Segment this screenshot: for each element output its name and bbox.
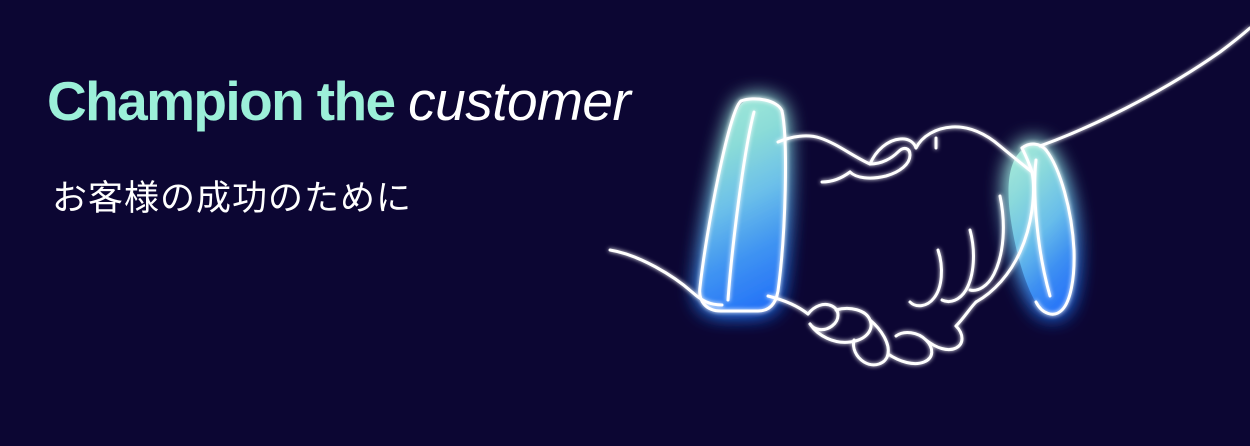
hero-banner: Champion the customer お客様の成功のために [0,0,1250,446]
handshake-line-path [610,28,1250,365]
subtitle-japanese: お客様の成功のために [52,178,412,220]
handshake-illustration [570,0,1250,446]
headline-bold-part: Champion the [47,70,408,132]
right-sleeve-cuff [1009,143,1074,315]
page-title: Champion the customer [47,74,630,129]
